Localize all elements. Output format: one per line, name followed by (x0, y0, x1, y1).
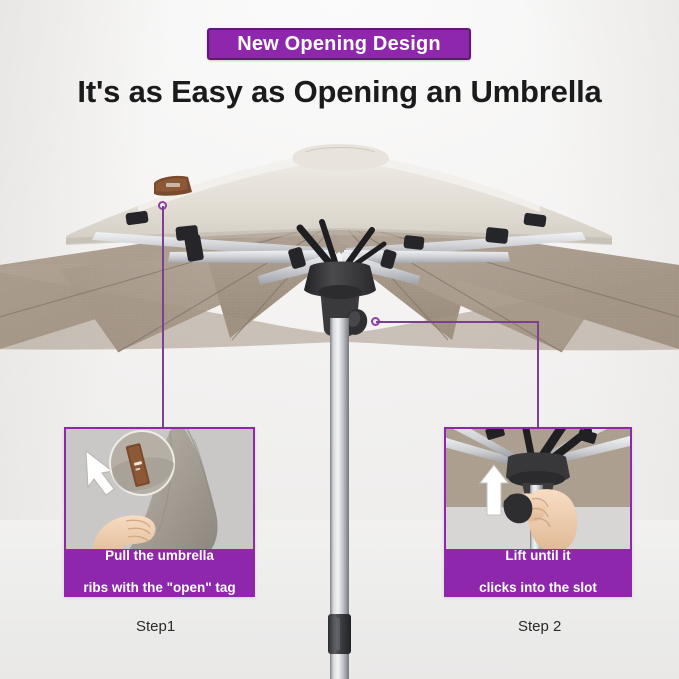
open-tag (154, 176, 192, 196)
umbrella-pole (328, 318, 351, 679)
step-2-caption-text: Lift until it clicks into the slot (479, 548, 597, 596)
infographic-canvas: New Opening Design It's as Easy as Openi… (0, 0, 679, 679)
step-1-caption: Pull the umbrella ribs with the "open" t… (66, 549, 253, 595)
connector-line-right-vertical (537, 321, 539, 427)
step-2-label: Step 2 (518, 618, 561, 635)
badge-label: New Opening Design (237, 34, 441, 54)
step-2-caption: Lift until it clicks into the slot (446, 549, 630, 595)
step-2-callout: Lift until it clicks into the slot (444, 427, 632, 597)
step-2-photo (446, 429, 630, 549)
step-1-caption-line-1: Pull the umbrella (83, 548, 235, 564)
step-1-scene (66, 429, 253, 549)
step-1-callout: Pull the umbrella ribs with the "open" t… (64, 427, 255, 597)
step-1-caption-text: Pull the umbrella ribs with the "open" t… (83, 548, 235, 596)
step-2-scene (446, 429, 630, 549)
step-2-caption-line-1: Lift until it (479, 548, 597, 564)
step-1-caption-line-2: ribs with the "open" tag (83, 580, 235, 596)
page-title: It's as Easy as Opening an Umbrella (0, 74, 679, 110)
canopy-upper-cream (66, 144, 612, 245)
connector-line-right-horizontal (376, 321, 539, 323)
step-2-caption-line-2: clicks into the slot (479, 580, 597, 596)
connector-line-left (162, 206, 164, 427)
step-1-photo (66, 429, 253, 549)
magnifier-inset (110, 431, 174, 495)
step-1-label: Step1 (136, 618, 175, 635)
new-opening-design-badge: New Opening Design (207, 28, 471, 60)
